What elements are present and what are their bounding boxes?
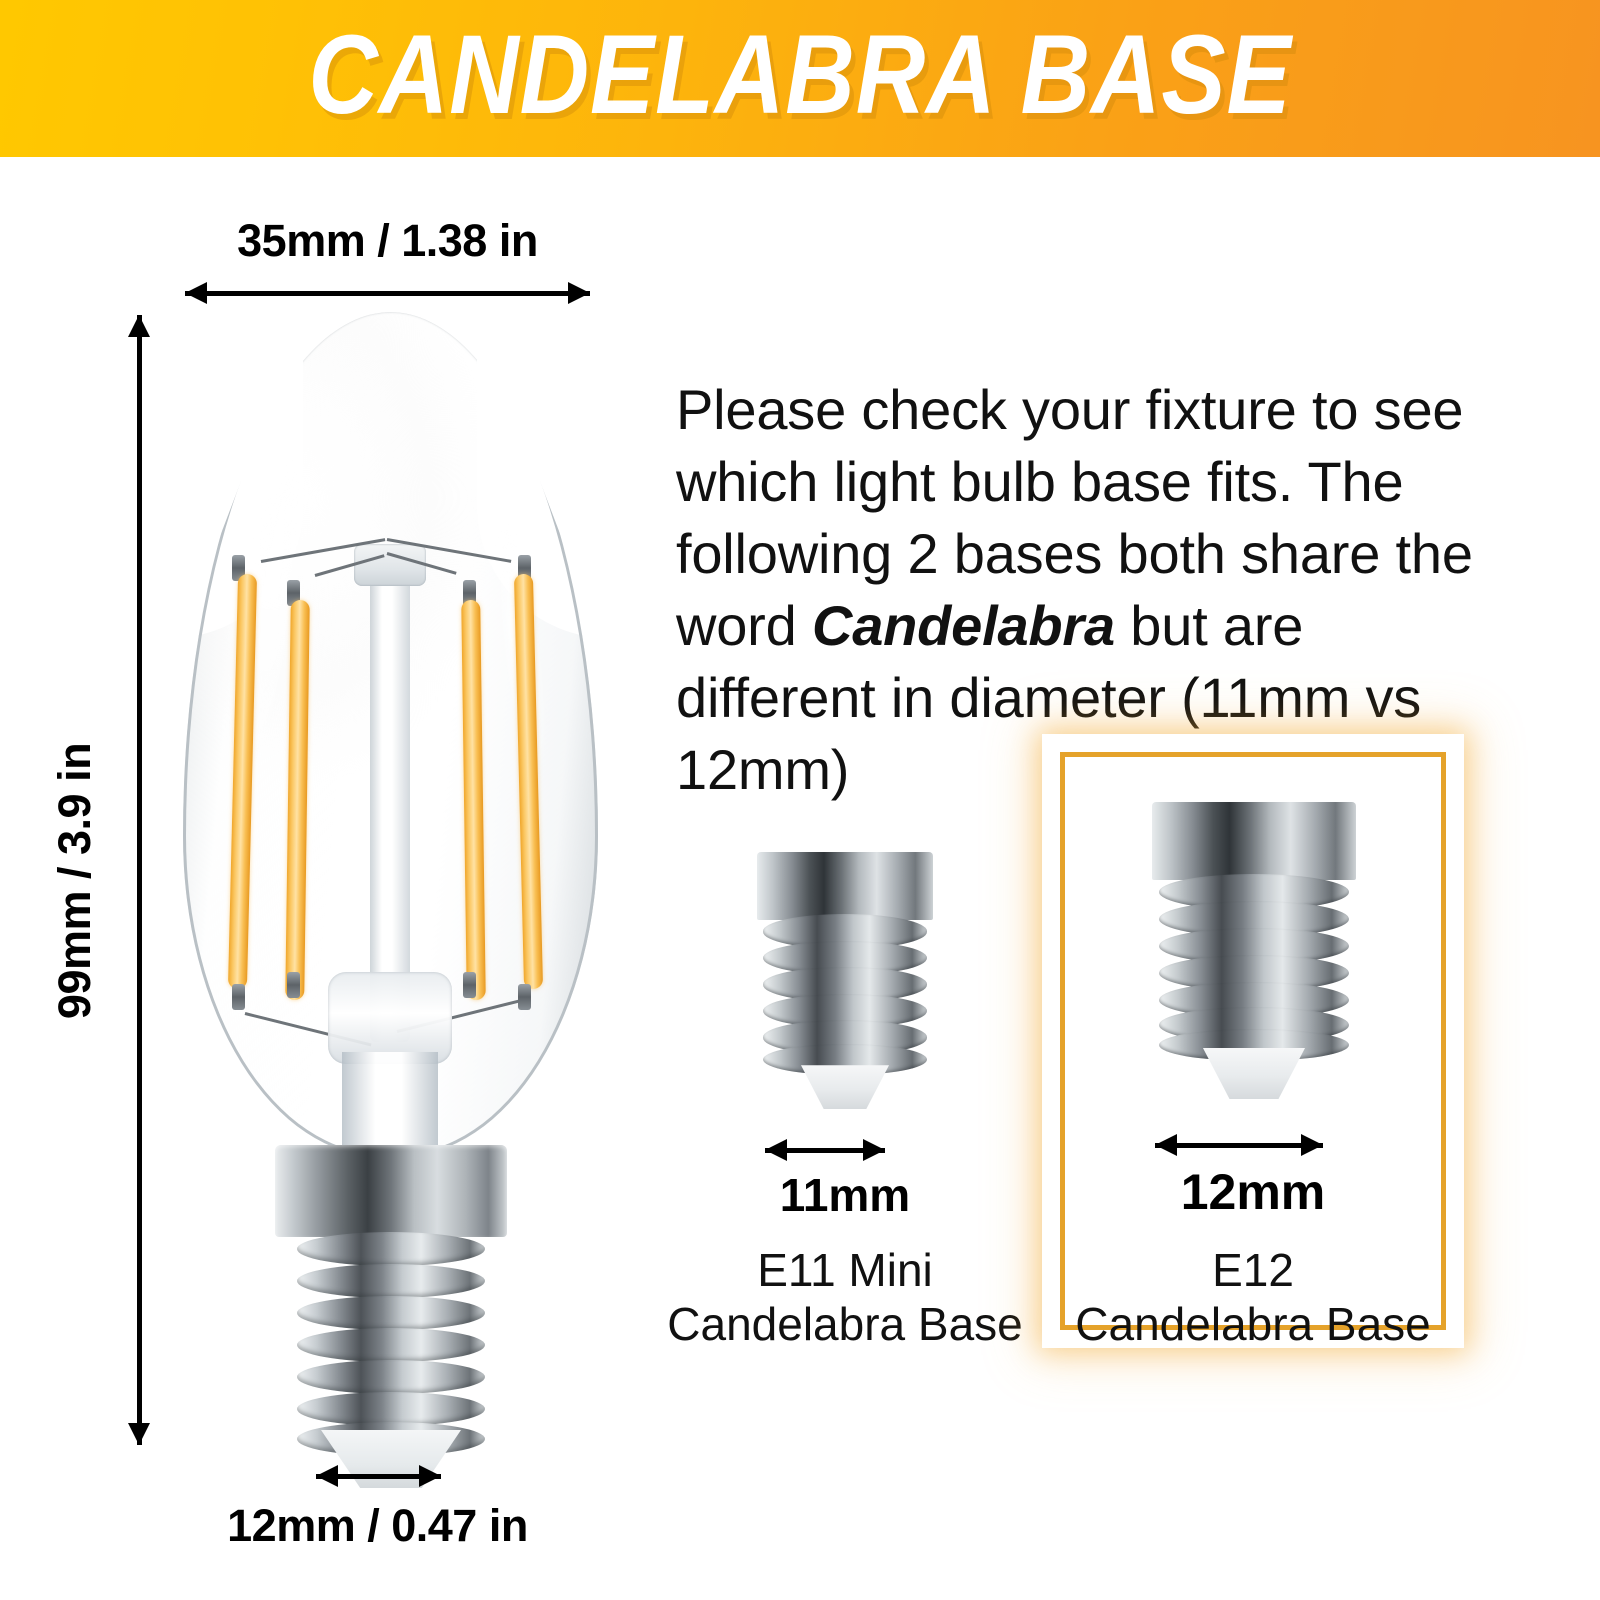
arrow-head-left <box>185 282 207 304</box>
header-banner: CANDELABRA BASE <box>0 0 1600 157</box>
bulb-base-width-arrow-icon <box>316 1466 441 1486</box>
e12-caption: E12 Candelabra Base <box>1060 1243 1446 1351</box>
e11-base-photo <box>745 852 945 1112</box>
filament-clip-bottom-3 <box>463 972 476 998</box>
bulb-base-width-label: 12mm / 0.47 in <box>40 1500 715 1552</box>
screw-base-icon <box>1138 802 1370 1102</box>
thread-ring <box>297 1264 485 1298</box>
arrow-shaft <box>185 291 590 296</box>
arrow-shaft <box>1155 1143 1323 1148</box>
bulb-glass-stem <box>370 562 410 1042</box>
thread-ring <box>297 1232 485 1266</box>
screw-base-threads <box>763 914 927 1070</box>
description-bold-word: Candelabra <box>812 594 1115 657</box>
screw-base-tip <box>801 1065 889 1109</box>
filament-clip-bottom-1 <box>232 984 245 1010</box>
bulb-height-arrow-icon <box>129 315 149 1445</box>
arrow-head-left <box>316 1465 338 1487</box>
e11-caption: E11 Mini Candelabra Base <box>660 1243 1030 1351</box>
candle-bulb-illustration <box>175 312 605 1447</box>
e12-diameter-arrow-icon <box>1155 1135 1323 1155</box>
arrow-head-up <box>128 315 150 337</box>
arrow-head-left <box>765 1139 787 1161</box>
thread-ring <box>297 1328 485 1362</box>
e11-diameter-label: 11mm <box>660 1168 1030 1222</box>
bulb-width-arrow-icon <box>185 283 590 303</box>
bulb-width-label: 35mm / 1.38 in <box>0 215 775 267</box>
screw-base-threads <box>1159 874 1349 1054</box>
e11-diameter-arrow-icon <box>765 1140 885 1160</box>
thread-ring <box>297 1392 485 1426</box>
arrow-head-right <box>568 282 590 304</box>
arrow-shaft <box>137 315 142 1445</box>
arrow-head-down <box>128 1423 150 1445</box>
thread-ring <box>297 1296 485 1330</box>
bulb-stem-press <box>328 972 452 1064</box>
bulb-height-label: 99mm / 3.9 in <box>49 731 101 1031</box>
filament-clip-bottom-4 <box>518 984 531 1010</box>
page-title: CANDELABRA BASE <box>112 14 1488 136</box>
thread-ring <box>297 1360 485 1394</box>
screw-base-collar <box>1152 802 1356 880</box>
arrow-head-right <box>863 1139 885 1161</box>
bulb-stem-cap <box>354 544 426 586</box>
screw-base-icon <box>745 852 945 1112</box>
filament-clip-bottom-2 <box>287 972 300 998</box>
arrow-head-left <box>1155 1134 1177 1156</box>
arrow-head-right <box>419 1465 441 1487</box>
bulb-base-collar <box>275 1145 507 1237</box>
description-paragraph: Please check your fixture to see which l… <box>676 374 1506 806</box>
arrow-head-right <box>1301 1134 1323 1156</box>
screw-base-tip <box>1203 1048 1305 1099</box>
bulb-base-threads <box>297 1232 485 1458</box>
e12-base-photo <box>1138 802 1370 1102</box>
screw-base-collar <box>757 852 933 920</box>
e12-diameter-label: 12mm <box>1060 1163 1446 1221</box>
